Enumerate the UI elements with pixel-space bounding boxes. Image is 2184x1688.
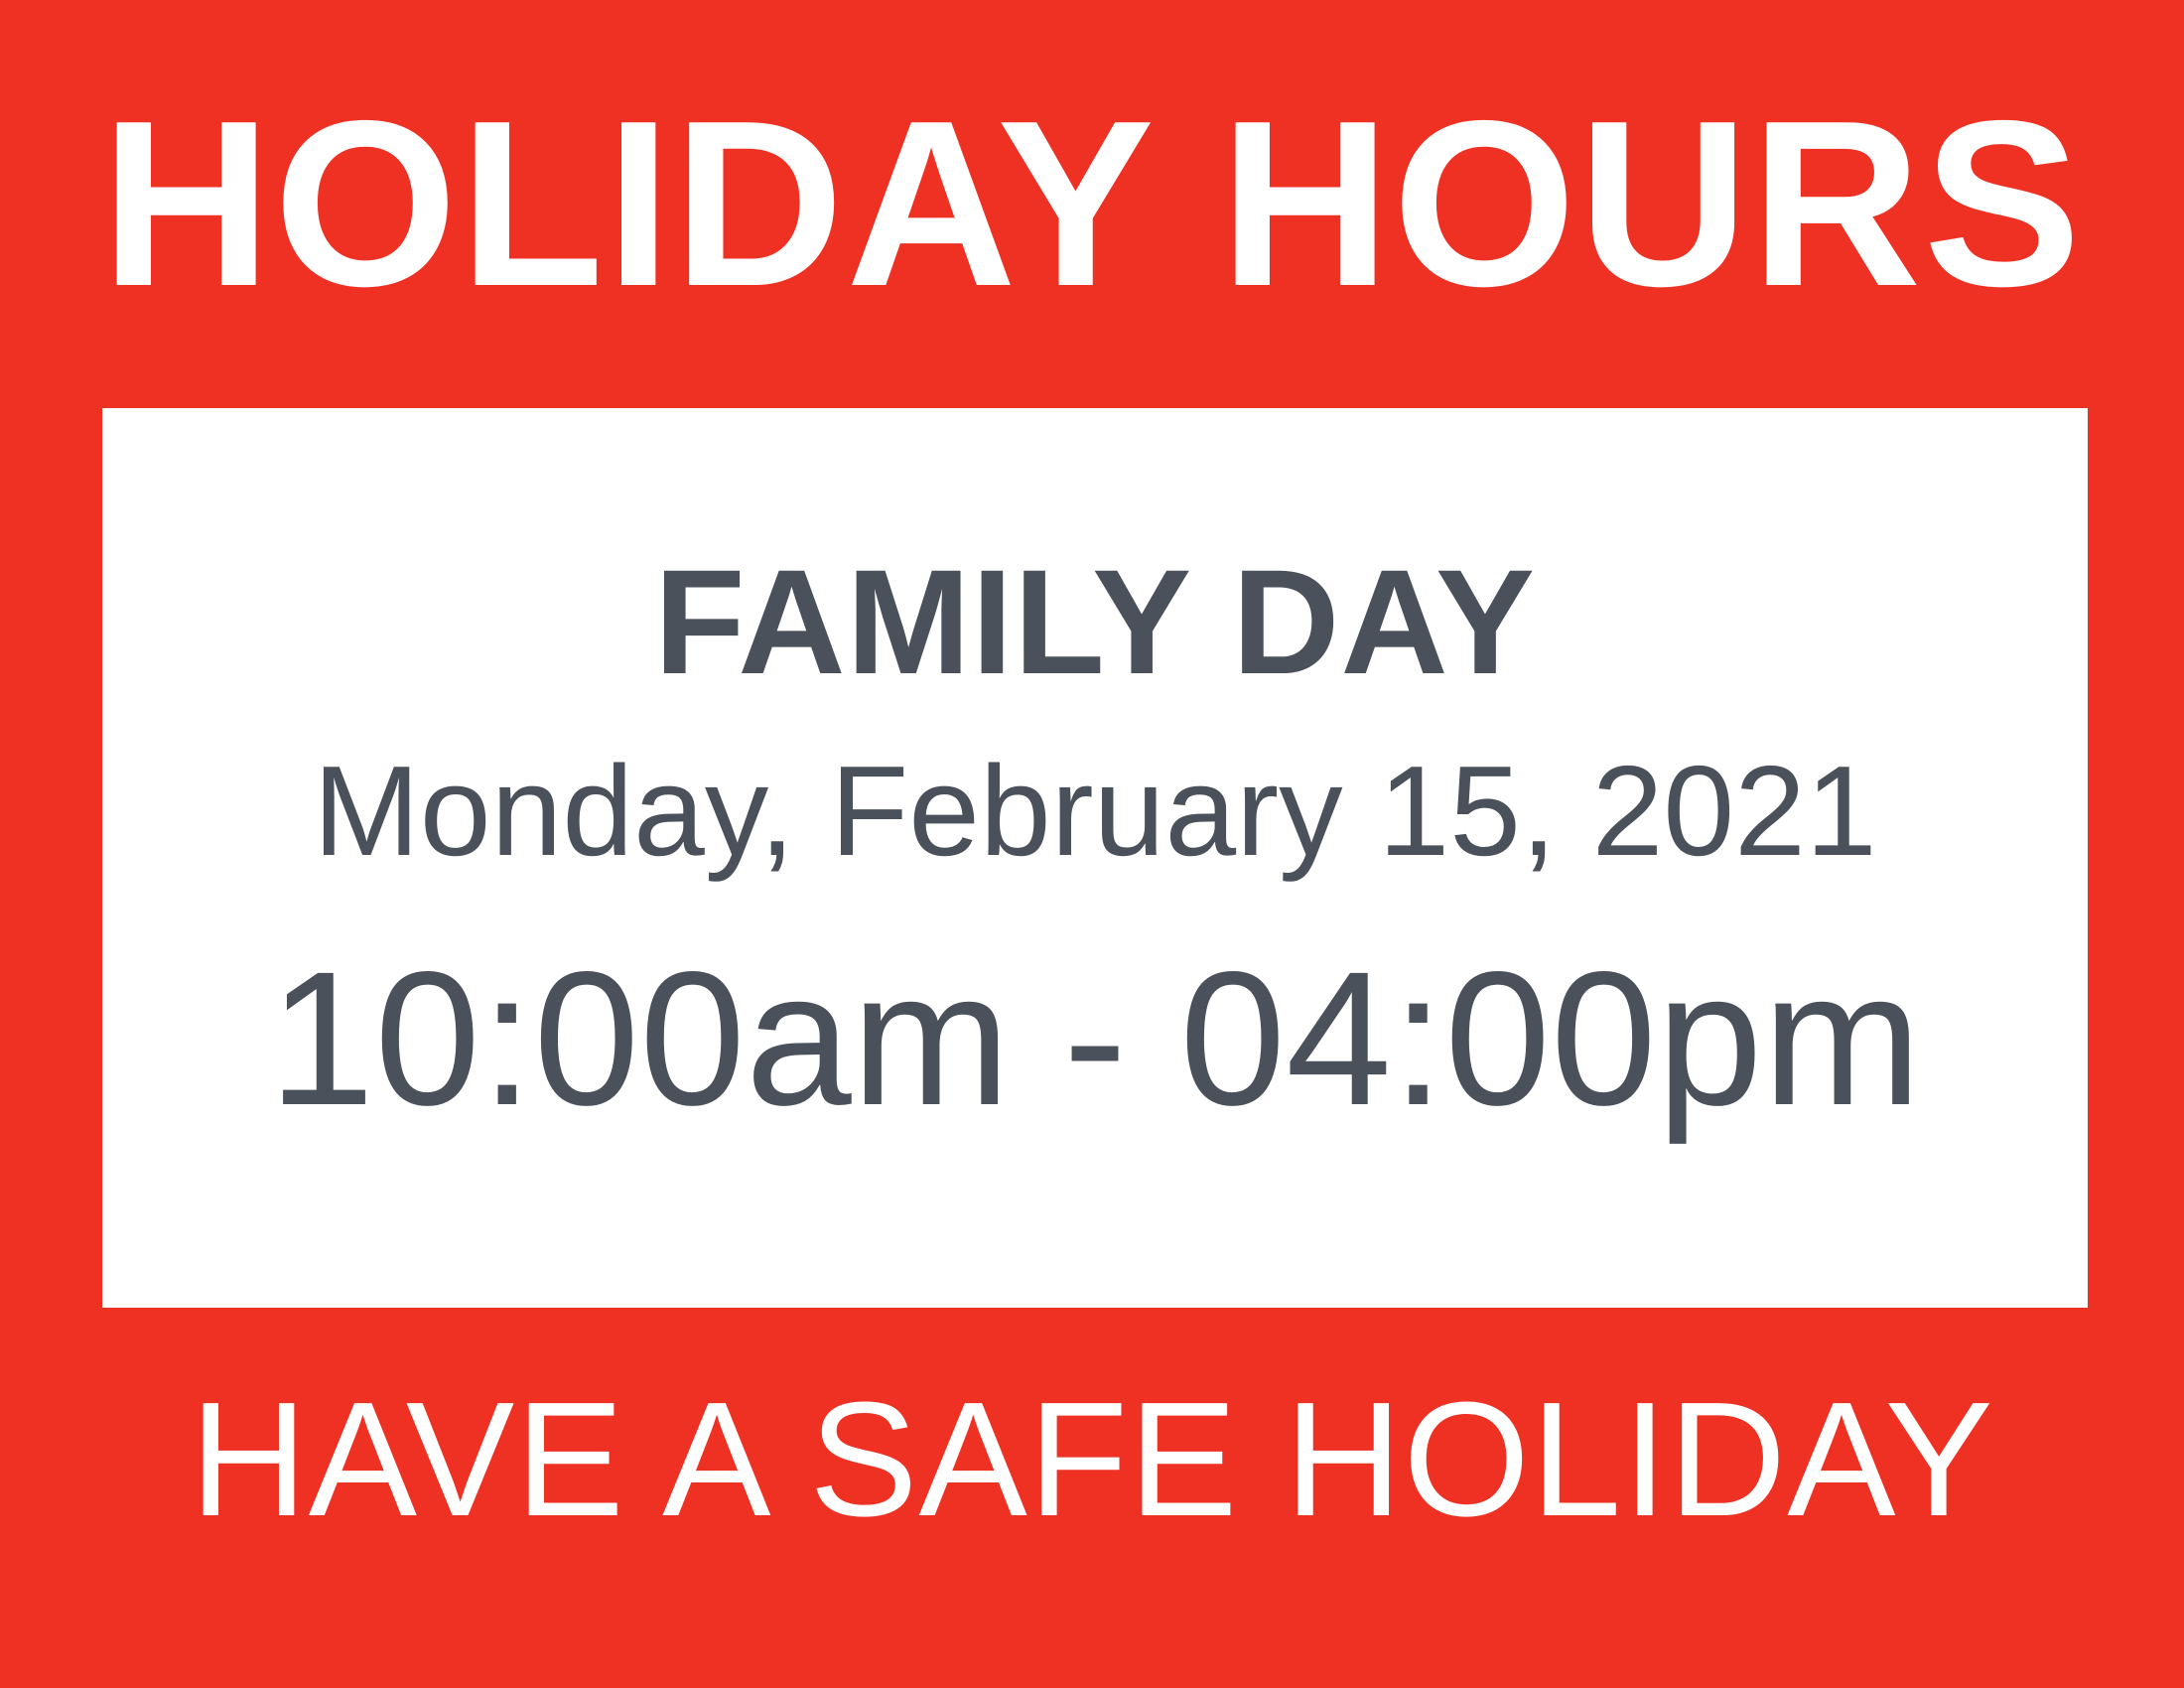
holiday-date: Monday, February 15, 2021	[313, 748, 1876, 876]
sign-footer-message: HAVE A SAFE HOLIDAY	[0, 1370, 2184, 1549]
hours-panel: FAMILY DAY Monday, February 15, 2021 10:…	[102, 408, 2088, 1308]
holiday-name: FAMILY DAY	[654, 547, 1536, 696]
holiday-hours-sign: HOLIDAY HOURS FAMILY DAY Monday, Februar…	[0, 0, 2184, 1688]
holiday-hours-range: 10:00am - 04:00pm	[269, 943, 1922, 1134]
sign-title: HOLIDAY HOURS	[0, 56, 2184, 353]
